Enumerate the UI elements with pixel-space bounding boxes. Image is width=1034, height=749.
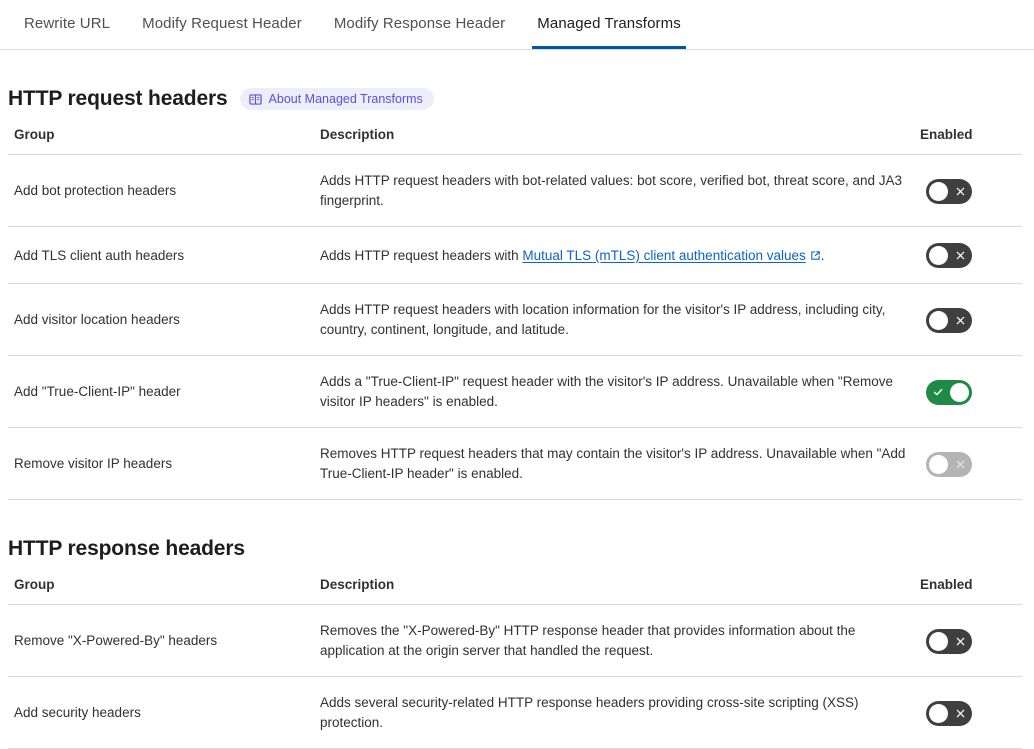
- close-icon: [948, 179, 972, 204]
- close-icon: [948, 629, 972, 654]
- row-description: Adds HTTP request headers with Mutual TL…: [314, 227, 920, 284]
- row-description-suffix: .: [821, 248, 825, 263]
- section-http-request-headers: HTTP request headers About Managed Trans…: [0, 86, 1034, 500]
- table-header-row: Group Description Enabled: [8, 126, 1022, 155]
- column-header-enabled: Enabled: [920, 576, 1022, 605]
- close-icon: [948, 243, 972, 268]
- toggle-knob: [950, 383, 969, 402]
- table-row: Remove visitor IP headers Removes HTTP r…: [8, 428, 1022, 500]
- about-badge-label: About Managed Transforms: [269, 91, 423, 107]
- table-header-row: Group Description Enabled: [8, 576, 1022, 605]
- toggle-add-bot-protection-headers[interactable]: [926, 179, 972, 204]
- row-description: Adds HTTP request headers with location …: [314, 284, 920, 356]
- row-enabled-cell: [920, 227, 1022, 284]
- toggle-remove-visitor-ip-headers: [926, 452, 972, 477]
- toggle-add-true-client-ip-header[interactable]: [926, 380, 972, 405]
- table-row: Add bot protection headers Adds HTTP req…: [8, 155, 1022, 227]
- tab-rewrite-url[interactable]: Rewrite URL: [8, 0, 126, 48]
- row-enabled-cell: [920, 356, 1022, 428]
- column-header-group: Group: [8, 576, 314, 605]
- row-description: Adds HTTP request headers with bot-relat…: [314, 155, 920, 227]
- tab-modify-request-header[interactable]: Modify Request Header: [126, 0, 318, 48]
- close-icon: [948, 308, 972, 333]
- row-group-label: Add visitor location headers: [8, 284, 314, 356]
- row-enabled-cell: [920, 677, 1022, 749]
- toggle-add-tls-client-auth-headers[interactable]: [926, 243, 972, 268]
- table-row: Add "True-Client-IP" header Adds a "True…: [8, 356, 1022, 428]
- row-group-label: Add "True-Client-IP" header: [8, 356, 314, 428]
- toggle-remove-x-powered-by-headers[interactable]: [926, 629, 972, 654]
- section-header: HTTP request headers About Managed Trans…: [8, 86, 1022, 112]
- toggle-knob: [929, 311, 948, 330]
- page-title: HTTP request headers: [8, 86, 228, 112]
- section-header: HTTP response headers: [8, 536, 1022, 562]
- table-row: Add visitor location headers Adds HTTP r…: [8, 284, 1022, 356]
- column-header-description: Description: [314, 126, 920, 155]
- row-group-label: Add security headers: [8, 677, 314, 749]
- table-row: Add security headers Adds several securi…: [8, 677, 1022, 749]
- row-enabled-cell: [920, 605, 1022, 677]
- row-description: Removes the "X-Powered-By" HTTP response…: [314, 605, 920, 677]
- section-title-response: HTTP response headers: [8, 536, 245, 562]
- section-http-response-headers: HTTP response headers Group Description …: [0, 536, 1034, 749]
- row-description: Removes HTTP request headers that may co…: [314, 428, 920, 500]
- about-managed-transforms-link[interactable]: About Managed Transforms: [240, 88, 434, 110]
- column-header-description: Description: [314, 576, 920, 605]
- book-icon: [249, 93, 262, 106]
- tab-bar: Rewrite URL Modify Request Header Modify…: [0, 0, 1034, 50]
- toggle-knob: [929, 704, 948, 723]
- toggle-knob: [929, 455, 948, 474]
- row-group-label: Remove visitor IP headers: [8, 428, 314, 500]
- toggle-knob: [929, 632, 948, 651]
- row-description-prefix: Adds HTTP request headers with: [320, 248, 522, 263]
- row-description: Adds several security-related HTTP respo…: [314, 677, 920, 749]
- close-icon: [948, 452, 972, 477]
- row-description: Adds a "True-Client-IP" request header w…: [314, 356, 920, 428]
- toggle-add-security-headers[interactable]: [926, 701, 972, 726]
- column-header-group: Group: [8, 126, 314, 155]
- managed-transforms-request-table: Group Description Enabled Add bot protec…: [8, 126, 1022, 500]
- row-group-label: Add bot protection headers: [8, 155, 314, 227]
- check-icon: [926, 380, 950, 405]
- row-enabled-cell: [920, 155, 1022, 227]
- column-header-enabled: Enabled: [920, 126, 1022, 155]
- row-enabled-cell: [920, 428, 1022, 500]
- close-icon: [948, 701, 972, 726]
- tab-managed-transforms[interactable]: Managed Transforms: [521, 0, 697, 48]
- external-link-icon: [810, 247, 821, 258]
- toggle-knob: [929, 182, 948, 201]
- tab-modify-response-header[interactable]: Modify Response Header: [318, 0, 521, 48]
- mtls-docs-link[interactable]: Mutual TLS (mTLS) client authentication …: [522, 248, 805, 263]
- toggle-add-visitor-location-headers[interactable]: [926, 308, 972, 333]
- managed-transforms-response-table: Group Description Enabled Remove "X-Powe…: [8, 576, 1022, 749]
- mtls-docs-link-label: Mutual TLS (mTLS) client authentication …: [522, 248, 805, 263]
- toggle-knob: [929, 246, 948, 265]
- table-row: Add TLS client auth headers Adds HTTP re…: [8, 227, 1022, 284]
- row-group-label: Remove "X-Powered-By" headers: [8, 605, 314, 677]
- table-row: Remove "X-Powered-By" headers Removes th…: [8, 605, 1022, 677]
- row-enabled-cell: [920, 284, 1022, 356]
- row-group-label: Add TLS client auth headers: [8, 227, 314, 284]
